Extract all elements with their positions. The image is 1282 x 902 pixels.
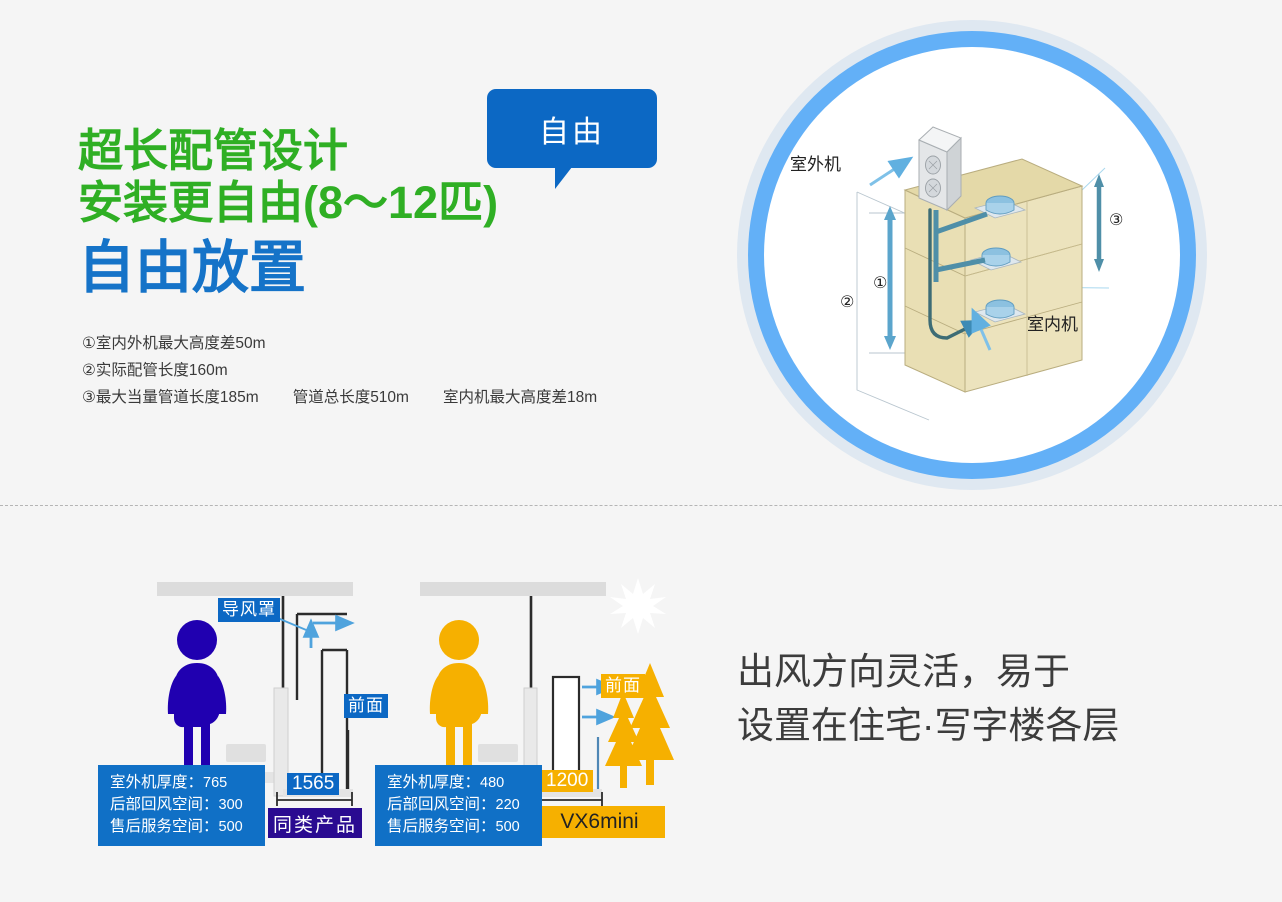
marketing-page: 超长配管设计 安装更自由(8～12匹) 自由放置 自由 ①室内外机最大高度差50… (0, 0, 1282, 902)
dimension-left: 1565 (287, 773, 339, 795)
info-box-right: 室外机厚度：480 后部回风空间：220 售后服务空间：500 (375, 765, 542, 846)
bottom-tagline-line2: 设置在住宅·写字楼各层 (737, 699, 1119, 753)
info-label: 室外机厚度： (110, 774, 203, 791)
product-label-right: VX6mini (534, 806, 665, 838)
info-label: 售后服务空间： (387, 818, 496, 835)
tag-guide-hood: 导风罩 (218, 598, 280, 622)
info-box-left: 室外机厚度：765 后部回风空间：300 售后服务空间：500 (98, 765, 265, 846)
bottom-tagline: 出风方向灵活，易于 设置在住宅·写字楼各层 (737, 645, 1119, 753)
info-value: 500 (496, 819, 520, 835)
person-figure-left (168, 620, 226, 770)
starburst-icon (610, 578, 666, 634)
info-row: 售后服务空间：500 (387, 816, 530, 838)
info-label: 后部回风空间： (110, 796, 219, 813)
info-row: 售后服务空间：500 (110, 816, 253, 838)
info-label: 后部回风空间： (387, 796, 496, 813)
info-label: 售后服务空间： (110, 818, 219, 835)
info-value: 500 (219, 819, 243, 835)
info-value: 220 (496, 797, 520, 813)
info-row: 后部回风空间：220 (387, 794, 530, 816)
product-label-left: 同类产品 (268, 808, 362, 838)
info-label: 室外机厚度： (387, 774, 480, 791)
bottom-tagline-line1: 出风方向灵活，易于 (737, 645, 1119, 699)
info-row: 后部回风空间：300 (110, 794, 253, 816)
info-value: 300 (219, 797, 243, 813)
info-row: 室外机厚度：480 (387, 772, 530, 794)
info-value: 480 (480, 775, 504, 791)
dimension-right: 1200 (541, 770, 593, 792)
tag-front-left: 前面 (344, 694, 388, 718)
info-row: 室外机厚度：765 (110, 772, 253, 794)
tag-front-right: 前面 (601, 674, 645, 698)
info-value: 765 (203, 775, 227, 791)
